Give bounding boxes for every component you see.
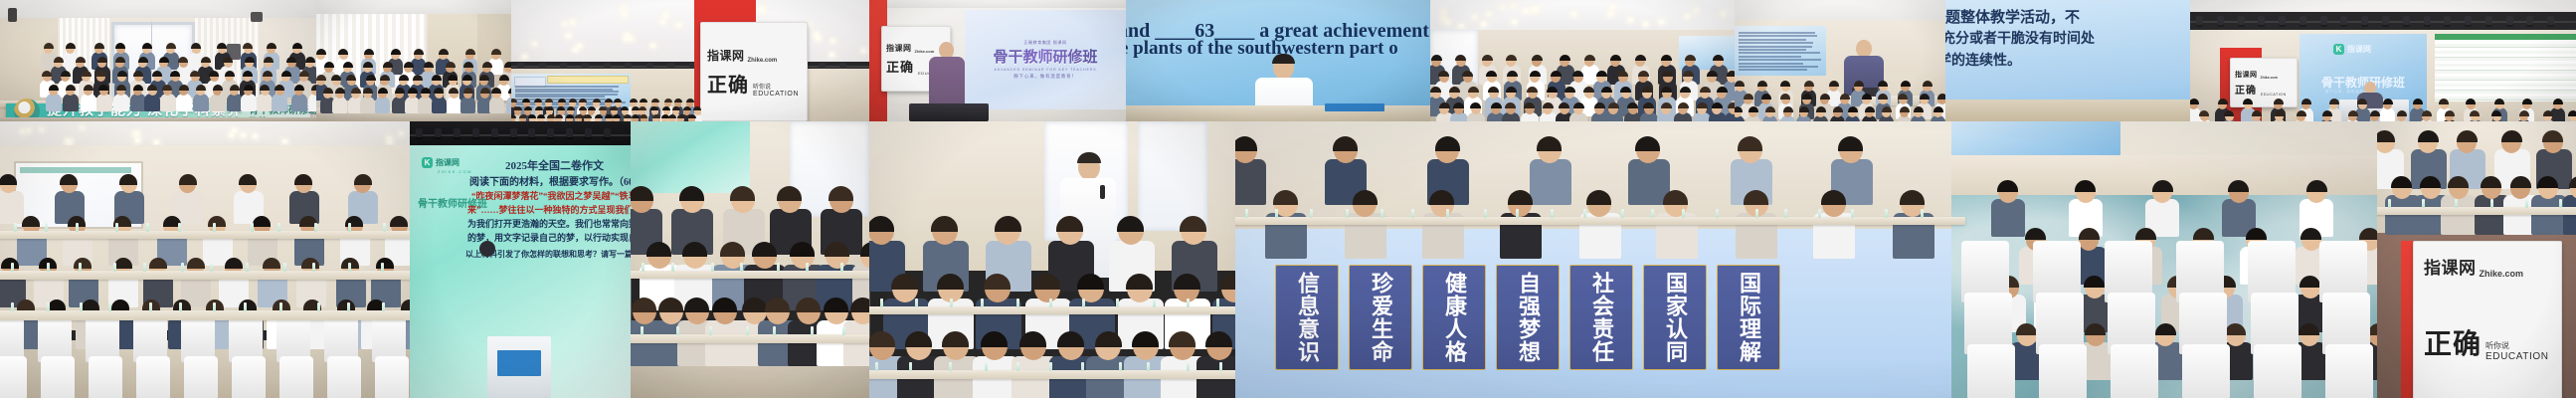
- photo-participant-speaking[interactable]: [869, 121, 1235, 398]
- person-hair: [1744, 94, 1753, 99]
- crowd-person: [432, 89, 447, 112]
- person-body: [447, 97, 461, 113]
- crowd-person: [96, 86, 112, 111]
- person-hair: [491, 49, 501, 55]
- person-hair: [1738, 136, 1762, 151]
- keyword-box: 国际理解: [1717, 265, 1780, 370]
- person-hair: [294, 174, 312, 185]
- person-hair: [1220, 274, 1235, 290]
- crowd-person: [1780, 107, 1795, 121]
- person-hair: [463, 62, 473, 68]
- crowd-person: [46, 86, 62, 111]
- person-hair: [1429, 190, 1454, 205]
- person-body: [375, 97, 390, 113]
- person-hair: [114, 258, 132, 269]
- brand-slogan-en-large: EDUCATION: [2485, 351, 2549, 362]
- person-hair: [2246, 228, 2267, 240]
- person-hair: [1438, 71, 1449, 77]
- person-hair: [111, 299, 129, 310]
- person-hair: [383, 62, 393, 68]
- water-bottle: [45, 223, 48, 232]
- person-hair: [613, 114, 621, 118]
- crowd-person: [2345, 111, 2360, 121]
- person-hair: [166, 43, 176, 49]
- stage-spotlight: [2340, 16, 2347, 25]
- person-hair: [1564, 87, 1575, 93]
- person-hair: [343, 62, 353, 68]
- person-hair: [1923, 81, 1932, 87]
- person-hair: [828, 186, 853, 201]
- conference-chair: [2254, 344, 2301, 398]
- person-hair: [664, 99, 672, 102]
- person-body: [241, 94, 257, 111]
- conference-desk: [869, 306, 1235, 314]
- person-hair: [1435, 136, 1460, 151]
- conference-desk: [0, 231, 410, 239]
- person-hair: [363, 88, 373, 94]
- water-bottle: [1380, 209, 1383, 218]
- person-hair: [688, 114, 696, 118]
- person-body: [291, 94, 307, 111]
- crowd-person: [203, 217, 233, 265]
- person-hair: [2445, 110, 2455, 116]
- person-hair: [595, 114, 603, 118]
- person-body: [506, 97, 511, 113]
- water-bottle: [950, 298, 953, 307]
- slide-text-line: [1739, 35, 1817, 37]
- person-body: [176, 94, 192, 111]
- water-bottle: [47, 302, 50, 311]
- zhike-k-icon: [2333, 44, 2344, 55]
- ceiling-light: [232, 128, 237, 132]
- conference-desk: [0, 310, 410, 320]
- person-hair: [630, 99, 638, 102]
- person-hair: [1547, 87, 1558, 93]
- crowd-person: [291, 86, 307, 111]
- person-hair: [1573, 102, 1584, 108]
- person-hair: [48, 299, 66, 310]
- person-hair: [1169, 331, 1196, 347]
- photo-podium-speaker[interactable]: 正确教育集团 指课网 骨干教师研修班 ADVANCED SEMINAR FOR …: [869, 0, 1126, 121]
- water-bottle: [80, 302, 83, 311]
- person-hair: [1862, 94, 1872, 99]
- person-hair: [1799, 106, 1809, 112]
- person-hair: [545, 106, 553, 110]
- photo-reading-slide[interactable]: 指课网 ZHIKE.COM 骨干教师研修班 2025年全国二卷作文 阅读下面的材…: [410, 121, 631, 398]
- ceiling-light: [1628, 18, 1633, 22]
- stage-spotlight: [2300, 16, 2306, 25]
- person-hair: [331, 75, 341, 81]
- person-body: [144, 94, 160, 111]
- person-hair: [610, 106, 618, 110]
- crowd-person: [257, 86, 273, 111]
- person-hair: [479, 75, 489, 81]
- conference-chair: [279, 356, 313, 398]
- person-hair: [720, 242, 745, 257]
- brand-name-cn-small: 指课网: [886, 43, 912, 54]
- person-hair: [213, 85, 223, 91]
- stage-spotlight: [491, 128, 498, 137]
- water-bottle: [317, 302, 320, 311]
- crowd-person: [2516, 111, 2531, 121]
- slide-text-line: [1739, 39, 1806, 41]
- person-hair: [1627, 102, 1638, 108]
- person-hair: [301, 258, 319, 269]
- stage-spotlight: [2238, 16, 2245, 25]
- person-hair: [170, 71, 180, 77]
- water-bottle: [1651, 209, 1654, 218]
- keyword-box: 健康人格: [1422, 265, 1486, 370]
- person-hair: [677, 114, 685, 118]
- person-hair: [335, 88, 345, 94]
- water-bottle: [251, 223, 254, 232]
- crowd-person: [2197, 111, 2212, 121]
- person-hair: [138, 57, 148, 63]
- photo-audience-standing[interactable]: [1430, 0, 1735, 121]
- chinese-line-3: 教学的连续性。: [1945, 50, 2021, 70]
- crowd-person: [2145, 181, 2179, 235]
- photo-english-lecture[interactable]: and ____63____ a great achievement e pla…: [1126, 0, 1430, 121]
- person-hair: [133, 71, 143, 77]
- person-hair: [674, 99, 682, 102]
- person-hair: [2275, 110, 2285, 116]
- person-hair: [1453, 102, 1464, 108]
- person-hair: [1661, 102, 1672, 108]
- person-hair: [2084, 276, 2105, 288]
- water-bottle: [11, 302, 14, 311]
- person-hair: [179, 174, 197, 185]
- person-hair: [253, 216, 271, 227]
- podium-brand-sign-closeup: 指课网 Zhike.com 正确 听你说 EDUCATION: [2413, 241, 2562, 398]
- person-hair: [1780, 94, 1790, 99]
- person-body: [360, 97, 375, 113]
- person-hair: [152, 71, 162, 77]
- person-hair: [354, 174, 372, 185]
- person-body: [1235, 159, 1266, 205]
- water-bottle: [314, 223, 317, 232]
- person-hair: [2494, 99, 2504, 104]
- crowd-person: [360, 89, 375, 112]
- person-hair: [1431, 55, 1442, 61]
- person-hair: [142, 43, 152, 49]
- crowd-person: [113, 86, 129, 111]
- crowd-person: [210, 86, 226, 111]
- ceiling-light: [1693, 8, 1698, 12]
- person-hair: [61, 71, 71, 77]
- collage-row-top: 提升教学能力 深化学科素养 ENHANCE TEACHING ABILITY A…: [0, 0, 2576, 121]
- person-body: [46, 94, 62, 111]
- person-body: [2563, 195, 2576, 235]
- crowd-person: [447, 89, 461, 112]
- person-hair: [115, 43, 125, 49]
- person-hair: [263, 258, 280, 269]
- person-hair: [1537, 136, 1562, 151]
- person-hair: [399, 75, 409, 81]
- photo-data-slide[interactable]: 实主题整体教学活动，不 处理得不充分或者干脆没有时间处 教学的连续性。 指课网: [1945, 0, 2576, 121]
- water-bottle: [2388, 199, 2391, 208]
- photo-expert-lecture[interactable]: [1735, 0, 1945, 121]
- person-hair: [1095, 331, 1122, 347]
- water-bottle: [1885, 209, 1888, 218]
- conference-chair: [327, 356, 361, 398]
- water-bottle: [949, 362, 952, 371]
- water-bottle: [1682, 209, 1685, 218]
- crowd-person: [1502, 103, 1520, 121]
- person-hair: [2079, 228, 2100, 240]
- person-hair: [366, 75, 376, 81]
- person-body: [332, 97, 347, 113]
- photo-podium-closeup[interactable]: 指课网 Zhike.com 正确 听你说 EDUCATION: [2377, 121, 2576, 398]
- person-hair: [1126, 274, 1153, 290]
- ceiling-light: [629, 37, 634, 41]
- person-hair: [380, 75, 390, 81]
- crowd-person: [144, 86, 160, 111]
- person-hair: [1642, 87, 1653, 93]
- person-hair: [149, 258, 167, 269]
- water-bottle: [1016, 362, 1019, 371]
- person-hair: [263, 71, 273, 77]
- photo-group-photo[interactable]: 提升教学能力 深化学科素养 ENHANCE TEACHING ABILITY A…: [0, 0, 316, 121]
- water-bottle: [244, 302, 247, 311]
- water-bottle: [210, 263, 213, 272]
- person-hair: [17, 299, 35, 310]
- photo-audience-seated[interactable]: [0, 121, 410, 398]
- person-hair: [2322, 110, 2332, 116]
- person-hair: [1840, 94, 1850, 99]
- person-hair: [2329, 99, 2339, 104]
- person-hair: [463, 88, 473, 94]
- person-hair: [74, 258, 92, 269]
- crowd-person: [1605, 103, 1623, 121]
- stage-spotlight: [2506, 16, 2513, 25]
- crowd-person: [638, 115, 648, 121]
- water-bottle: [773, 326, 776, 335]
- crowd-person: [1569, 103, 1587, 121]
- person-hair: [535, 106, 543, 110]
- water-bottle: [1049, 362, 1052, 371]
- person-hair: [2297, 110, 2306, 116]
- stage-spotlight: [2320, 16, 2327, 25]
- water-bottle: [1346, 209, 1349, 218]
- conference-chair: [184, 356, 218, 398]
- photo-keywords-slide[interactable]: 信息意识珍爱生命健康人格自强梦想社会责任国家认同国际理解: [1235, 121, 2377, 398]
- person-hair: [2418, 130, 2439, 142]
- person-hair: [2383, 99, 2393, 104]
- person-hair: [82, 299, 99, 310]
- slide-text-line: [1739, 63, 1803, 65]
- conference-chair: [1967, 344, 2015, 398]
- person-hair: [1635, 55, 1646, 61]
- crowd-person: [2294, 111, 2308, 121]
- water-bottle: [1275, 209, 1278, 218]
- stage-spotlight: [416, 128, 423, 137]
- crowd-person: [1762, 107, 1777, 121]
- person-hair: [2501, 130, 2522, 142]
- crowd-person: [1897, 107, 1912, 121]
- water-bottle: [1755, 209, 1758, 218]
- person-hair: [305, 57, 315, 63]
- person-hair: [439, 49, 449, 55]
- water-bottle: [1153, 298, 1156, 307]
- person-hair: [2243, 99, 2253, 104]
- person-hair: [44, 43, 54, 49]
- ceiling-light: [1608, 12, 1613, 16]
- person-hair: [1735, 81, 1745, 87]
- water-bottle: [1551, 209, 1554, 218]
- person-hair: [1878, 94, 1888, 99]
- seminar-banner-title: 骨干教师研修班: [993, 46, 1097, 67]
- person-hair: [1506, 55, 1517, 61]
- keyword-box: 自强梦想: [1496, 265, 1560, 370]
- person-hair: [201, 57, 211, 63]
- crowd-person: [1674, 103, 1692, 121]
- person-hair: [1560, 55, 1570, 61]
- water-bottle: [676, 326, 679, 335]
- slide-text-line: [1739, 59, 1821, 61]
- person-hair: [178, 57, 188, 63]
- person-hair: [2301, 99, 2311, 104]
- person-hair: [1596, 71, 1607, 77]
- person-hair: [281, 71, 291, 77]
- person-hair: [869, 216, 894, 232]
- person-hair: [1527, 87, 1538, 93]
- reading-line-3: 来”……梦往往以一种独特的方式呈现我们的感受，: [467, 203, 631, 216]
- person-hair: [511, 114, 516, 118]
- water-bottle: [143, 263, 146, 272]
- water-bottle: [2525, 199, 2528, 208]
- person-hair: [2300, 276, 2320, 288]
- crowd-person: [460, 89, 475, 112]
- photo-group-photo-2[interactable]: [316, 0, 511, 121]
- ceiling-light: [577, 44, 582, 48]
- person-hair: [1594, 102, 1605, 108]
- person-hair: [1180, 216, 1206, 232]
- water-bottle: [1147, 362, 1150, 371]
- person-hair: [1583, 87, 1594, 93]
- person-hair: [984, 274, 1011, 290]
- stage-spotlight: [528, 128, 535, 137]
- person-hair: [1033, 274, 1060, 290]
- person-hair: [995, 216, 1021, 232]
- person-hair: [376, 258, 394, 269]
- water-bottle: [277, 223, 280, 232]
- water-bottle: [1818, 209, 1821, 218]
- person-hair: [1077, 274, 1104, 290]
- person-hair: [2377, 130, 2395, 142]
- crowd-person: [2272, 111, 2287, 121]
- person-hair: [2491, 110, 2501, 116]
- water-bottle: [283, 263, 286, 272]
- person-hair: [2190, 99, 2199, 104]
- brand-name-cn: 指课网: [707, 47, 745, 64]
- crowd-person: [553, 115, 564, 121]
- ceiling-light: [1445, 20, 1450, 24]
- water-bottle: [115, 223, 118, 232]
- photo-note-taking[interactable]: [631, 121, 869, 398]
- person-hair: [651, 99, 659, 102]
- person-hair: [621, 106, 629, 110]
- person-hair: [2218, 99, 2228, 104]
- person-hair: [364, 49, 374, 55]
- person-hair: [1543, 102, 1554, 108]
- person-hair: [98, 85, 108, 91]
- crowd-person: [173, 175, 203, 223]
- person-body: [2380, 107, 2395, 121]
- crowd-person: [675, 115, 686, 121]
- brand-slogan-cn-large: 正确: [2424, 322, 2482, 362]
- water-bottle: [2490, 199, 2493, 208]
- ceiling-light: [1533, 7, 1538, 11]
- conference-chair: [2039, 344, 2087, 398]
- person-hair: [1900, 106, 1910, 112]
- person-hair: [1235, 136, 1257, 151]
- crowd-person: [241, 86, 257, 111]
- water-bottle: [2422, 199, 2425, 208]
- person-body: [257, 94, 273, 111]
- person-hair: [434, 88, 444, 94]
- ceiling-light: [621, 5, 626, 9]
- person-hair: [2569, 176, 2576, 188]
- water-bottle: [347, 302, 350, 311]
- person-hair: [1462, 71, 1473, 77]
- person-hair: [937, 274, 964, 290]
- conference-chair: [375, 356, 409, 398]
- person-hair: [2413, 99, 2423, 104]
- person-hair: [1937, 94, 1945, 99]
- person-hair: [316, 75, 326, 81]
- person-hair: [162, 85, 172, 91]
- person-hair: [311, 85, 316, 91]
- water-bottle: [915, 298, 918, 307]
- person-hair: [404, 62, 414, 68]
- person-hair: [504, 62, 511, 68]
- person-hair: [1132, 331, 1159, 347]
- water-bottle: [1216, 298, 1219, 307]
- ceiling-light: [253, 134, 258, 138]
- person-hair: [94, 43, 104, 49]
- person-hair: [230, 85, 240, 91]
- person-hair: [1728, 102, 1735, 108]
- ceiling-light: [1472, 15, 1477, 19]
- person-hair: [1584, 55, 1595, 61]
- english-exercise-slide: and ____63____ a great achievement e pla…: [1126, 0, 1430, 121]
- person-hair: [1610, 55, 1621, 61]
- person-hair: [2152, 180, 2173, 192]
- person-hair: [225, 71, 235, 77]
- person-hair: [292, 43, 302, 49]
- person-hair: [1802, 94, 1812, 99]
- person-hair: [1678, 102, 1689, 108]
- conference-chair: [2111, 344, 2158, 398]
- crowd-person: [1725, 103, 1735, 121]
- conference-chair: [2325, 344, 2373, 398]
- person-hair: [1816, 106, 1826, 112]
- crowd-person: [2441, 177, 2477, 235]
- water-bottle: [840, 263, 843, 272]
- crowd-person: [340, 217, 370, 265]
- person-hair: [245, 57, 255, 63]
- person-hair: [1780, 81, 1790, 87]
- person-hair: [1638, 71, 1649, 77]
- photo-hall-wide[interactable]: 指课网 Zhike.com 正确 听你说 EDUCATION: [511, 0, 869, 121]
- person-hair: [465, 49, 475, 55]
- collage-row-bottom: 指课网 ZHIKE.COM 骨干教师研修班 2025年全国二卷作文 阅读下面的材…: [0, 121, 2576, 398]
- ceiling-light: [399, 131, 404, 135]
- person-hair: [537, 114, 545, 118]
- person-hair: [1717, 87, 1728, 93]
- person-hair: [115, 57, 125, 63]
- chinese-lecture-slide: 实主题整体教学活动，不 处理得不充分或者干脆没有时间处 教学的连续性。: [1945, 0, 2190, 121]
